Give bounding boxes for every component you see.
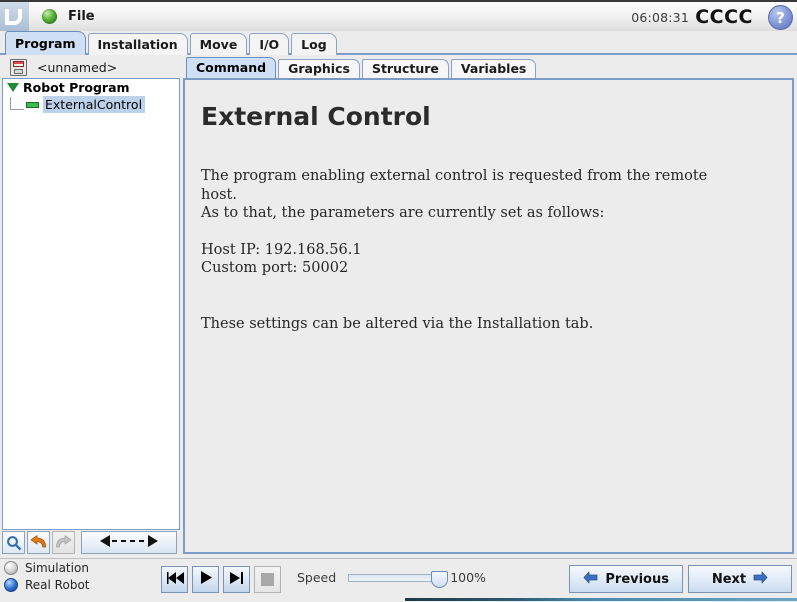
settings-hint: These settings can be altered via the In… <box>201 315 776 334</box>
window-bottom-accent <box>405 598 797 601</box>
description-line-1: The program enabling external control is… <box>201 167 776 186</box>
arrow-right-icon <box>753 571 768 588</box>
main-tab-strip: Program Installation Move I/O Log <box>0 31 797 55</box>
sub-tab-strip: Command Graphics Structure Variables <box>183 57 794 78</box>
speed-slider[interactable] <box>348 574 440 582</box>
tab-variables[interactable]: Variables <box>451 59 536 78</box>
program-file-row: <unnamed> <box>2 57 180 78</box>
magnifier-icon <box>6 535 22 551</box>
previous-button-label: Previous <box>605 572 669 587</box>
green-bar-icon <box>26 102 39 108</box>
command-content: External Control The program enabling ex… <box>183 78 794 554</box>
speed-value: 100% <box>450 570 486 585</box>
status-bar: Simulation Real Robot <box>0 558 797 599</box>
mode-real-robot[interactable]: Real Robot <box>4 578 90 592</box>
globe-icon <box>42 9 57 24</box>
program-name-label: <unnamed> <box>37 60 117 75</box>
tree-root-label: Robot Program <box>23 80 130 95</box>
window-bottom-filler <box>0 598 405 601</box>
custom-port-value: Custom port: 50002 <box>201 259 776 278</box>
brand-text: CCCC <box>695 6 753 28</box>
search-button[interactable] <box>2 531 25 554</box>
clock: 06:08:31 <box>631 10 689 25</box>
tab-installation[interactable]: Installation <box>88 33 188 55</box>
transport-controls <box>161 566 281 593</box>
undo-button[interactable] <box>27 531 50 554</box>
content-body: The program enabling external control is… <box>201 167 776 333</box>
floppy-disk-icon[interactable] <box>10 59 27 76</box>
mode-real-robot-label: Real Robot <box>25 578 90 592</box>
ur-logo-icon <box>0 2 29 31</box>
tab-log[interactable]: Log <box>291 33 337 55</box>
tab-io[interactable]: I/O <box>249 33 289 55</box>
step-forward-button[interactable] <box>223 566 250 593</box>
command-panel: Command Graphics Structure Variables Ext… <box>183 57 794 554</box>
navigation-buttons: Previous Next <box>569 565 792 593</box>
next-button[interactable]: Next <box>688 565 792 593</box>
tab-program[interactable]: Program <box>5 31 86 55</box>
undo-arrow-icon <box>30 535 47 551</box>
tree-child-label: ExternalControl <box>43 96 145 113</box>
tab-command[interactable]: Command <box>186 57 276 78</box>
page-title: External Control <box>201 102 776 131</box>
speed-control: Speed 100% <box>297 570 486 585</box>
play-button[interactable] <box>192 566 219 593</box>
mode-simulation[interactable]: Simulation <box>4 561 90 575</box>
redo-button <box>52 531 75 554</box>
next-button-label: Next <box>712 572 746 587</box>
move-node-button[interactable] <box>81 531 177 554</box>
description-line-2: host. <box>201 186 776 205</box>
skip-forward-icon <box>228 570 245 589</box>
tab-structure[interactable]: Structure <box>362 59 449 78</box>
question-mark-icon[interactable]: ? <box>768 5 793 30</box>
description-line-3: As to that, the parameters are currently… <box>201 204 776 223</box>
skip-to-start-button[interactable] <box>161 566 188 593</box>
ur-teach-pendant-window: File 06:08:31 CCCC ? Program Installatio… <box>0 0 797 602</box>
file-menu[interactable]: File <box>68 9 95 24</box>
previous-button[interactable]: Previous <box>569 565 683 593</box>
tree-toolbar <box>2 531 180 554</box>
title-bar: File 06:08:31 CCCC ? <box>0 0 797 31</box>
speed-label: Speed <box>297 570 336 585</box>
radio-off-icon[interactable] <box>4 561 18 575</box>
redo-arrow-icon <box>55 535 72 551</box>
left-right-arrow-icon <box>97 533 161 552</box>
mode-simulation-label: Simulation <box>25 561 89 575</box>
tab-graphics[interactable]: Graphics <box>278 59 360 78</box>
tree-node-external-control[interactable]: ExternalControl <box>3 96 179 113</box>
skip-back-icon <box>165 570 185 589</box>
arrow-left-icon <box>583 571 598 588</box>
host-ip-value: Host IP: 192.168.56.1 <box>201 241 776 260</box>
robot-mode-group: Simulation Real Robot <box>4 561 90 592</box>
stop-square-icon <box>261 573 274 586</box>
tree-elbow-icon <box>10 97 24 110</box>
play-icon <box>198 570 214 589</box>
speed-slider-knob[interactable] <box>431 571 448 588</box>
radio-on-icon[interactable] <box>4 578 18 592</box>
program-tree-panel: <unnamed> Robot Program ExternalControl <box>2 57 180 554</box>
tab-move[interactable]: Move <box>190 33 248 55</box>
triangle-down-icon[interactable] <box>7 83 19 92</box>
stop-button <box>254 566 281 593</box>
program-tree[interactable]: Robot Program ExternalControl <box>2 78 180 530</box>
tree-node-robot-program[interactable]: Robot Program <box>3 79 179 96</box>
